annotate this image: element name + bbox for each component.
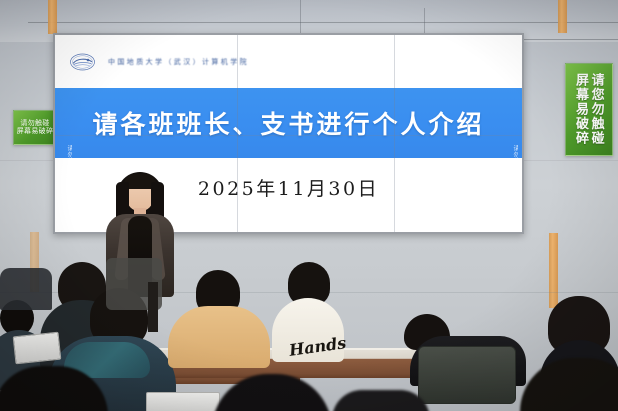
wall-wood-strip (549, 233, 558, 308)
slide-header: 中国地质大学（武汉）计算机学院 (55, 35, 522, 88)
laptop-screen[interactable] (418, 346, 516, 404)
university-emblem-icon (69, 52, 96, 72)
standing-person-leg (148, 282, 158, 332)
lecture-hall-photo: 请勿触碰 屏幕易破碎 请您勿触碰 屏幕易破碎 中国地质大学（武汉）计算机学院 请… (0, 0, 618, 411)
warning-sign-right-line1: 请您勿触碰 (590, 73, 604, 146)
laptop-screen[interactable] (13, 332, 62, 365)
warning-sign-right-line2: 屏幕易破碎 (574, 73, 588, 146)
wall-wood-strip (48, 0, 57, 34)
slide-title-band: 请勿触碰屏幕 请各班班长、支书进行个人介绍 请勿触碰屏幕 (55, 88, 522, 158)
seat-back (0, 268, 52, 310)
slide-organization-name: 中国地质大学（武汉）计算机学院 (108, 57, 249, 67)
laptop-screen[interactable] (146, 392, 220, 411)
warning-sign-left-line1: 请勿触碰 (20, 120, 49, 127)
warning-sign-left: 请勿触碰 屏幕易破碎 (13, 110, 57, 145)
ceiling-line (28, 22, 618, 23)
warning-sign-right: 请您勿触碰 屏幕易破碎 (565, 63, 613, 156)
audience-torso (168, 306, 270, 368)
wall-wood-strip (558, 0, 567, 33)
warning-sign-left-line2: 屏幕易破碎 (17, 128, 54, 135)
slide-main-title: 请各班班长、支书进行个人介绍 (92, 105, 484, 141)
slide-date: 2025年11月30日 (198, 174, 379, 232)
